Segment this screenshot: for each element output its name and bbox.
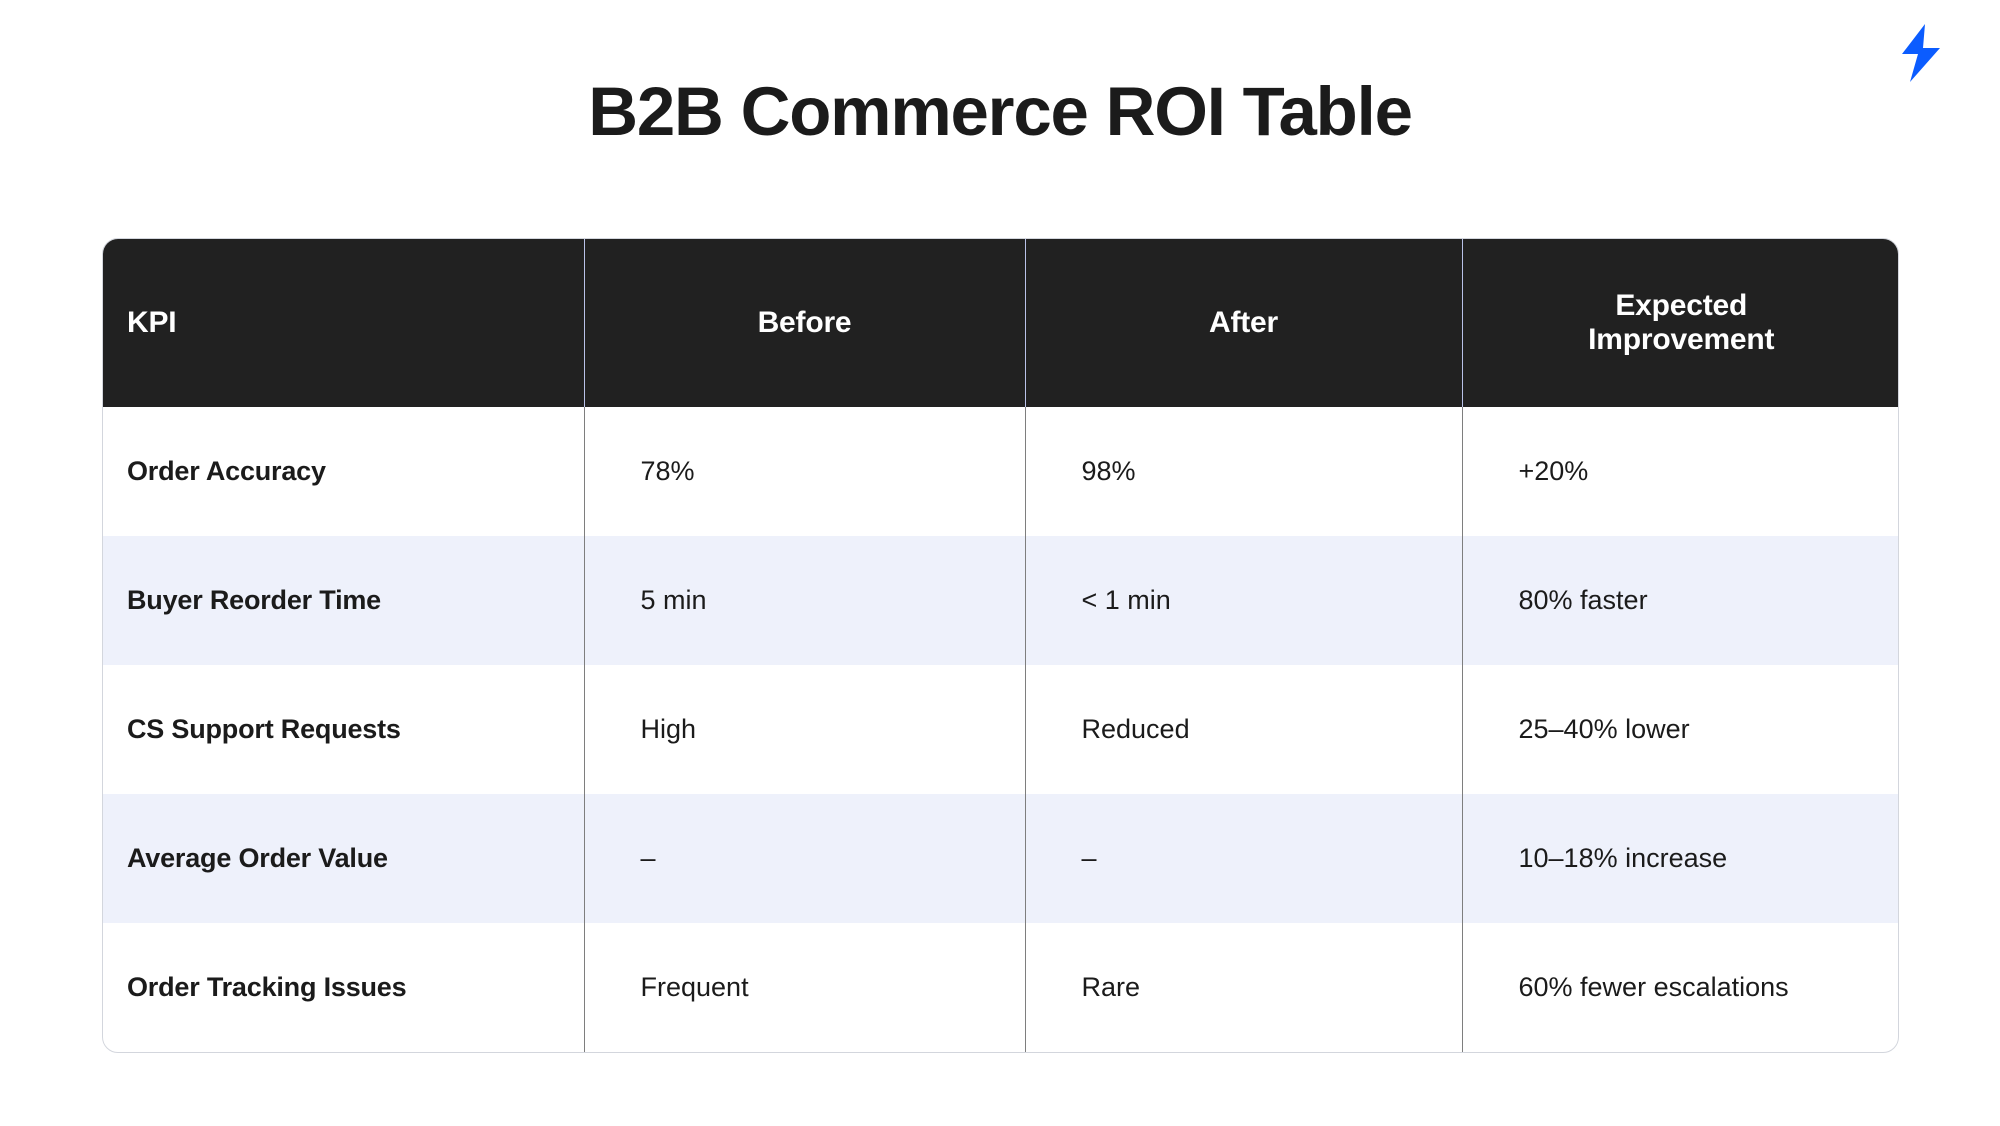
column-header-kpi: KPI: [103, 239, 584, 407]
column-header-expected-improvement: Expected Improvement: [1462, 239, 1899, 407]
table-row: Order Accuracy 78% 98% +20%: [103, 407, 1899, 536]
table-row: Average Order Value – – 10–18% increase: [103, 794, 1899, 923]
column-header-after: After: [1025, 239, 1462, 407]
column-header-expected-line1: Expected: [1487, 289, 1877, 324]
roi-table: KPI Before After Expected Improvement Or…: [103, 239, 1899, 1052]
cell-after: Rare: [1025, 923, 1462, 1052]
cell-improvement: 60% fewer escalations: [1462, 923, 1899, 1052]
table-body: Order Accuracy 78% 98% +20% Buyer Reorde…: [103, 407, 1899, 1052]
cell-kpi: Buyer Reorder Time: [103, 536, 584, 665]
cell-before: Frequent: [584, 923, 1025, 1052]
table-row: Buyer Reorder Time 5 min < 1 min 80% fas…: [103, 536, 1899, 665]
table-header: KPI Before After Expected Improvement: [103, 239, 1899, 407]
cell-improvement: +20%: [1462, 407, 1899, 536]
cell-kpi: Order Accuracy: [103, 407, 584, 536]
cell-after: –: [1025, 794, 1462, 923]
cell-after: Reduced: [1025, 665, 1462, 794]
cell-before: High: [584, 665, 1025, 794]
cell-kpi: CS Support Requests: [103, 665, 584, 794]
page-title: B2B Commerce ROI Table: [0, 76, 2000, 148]
cell-kpi: Average Order Value: [103, 794, 584, 923]
header-row: KPI Before After Expected Improvement: [103, 239, 1899, 407]
column-header-before: Before: [584, 239, 1025, 407]
cell-improvement: 80% faster: [1462, 536, 1899, 665]
cell-after: < 1 min: [1025, 536, 1462, 665]
cell-before: –: [584, 794, 1025, 923]
table-row: Order Tracking Issues Frequent Rare 60% …: [103, 923, 1899, 1052]
cell-before: 5 min: [584, 536, 1025, 665]
table-row: CS Support Requests High Reduced 25–40% …: [103, 665, 1899, 794]
lightning-bolt-icon: [1898, 24, 1944, 82]
roi-table-container: KPI Before After Expected Improvement Or…: [102, 238, 1899, 1053]
cell-before: 78%: [584, 407, 1025, 536]
column-header-expected-line2: Improvement: [1487, 323, 1877, 358]
page-root: B2B Commerce ROI Table KPI Before After …: [0, 0, 2000, 1126]
cell-kpi: Order Tracking Issues: [103, 923, 584, 1052]
cell-improvement: 25–40% lower: [1462, 665, 1899, 794]
cell-improvement: 10–18% increase: [1462, 794, 1899, 923]
cell-after: 98%: [1025, 407, 1462, 536]
